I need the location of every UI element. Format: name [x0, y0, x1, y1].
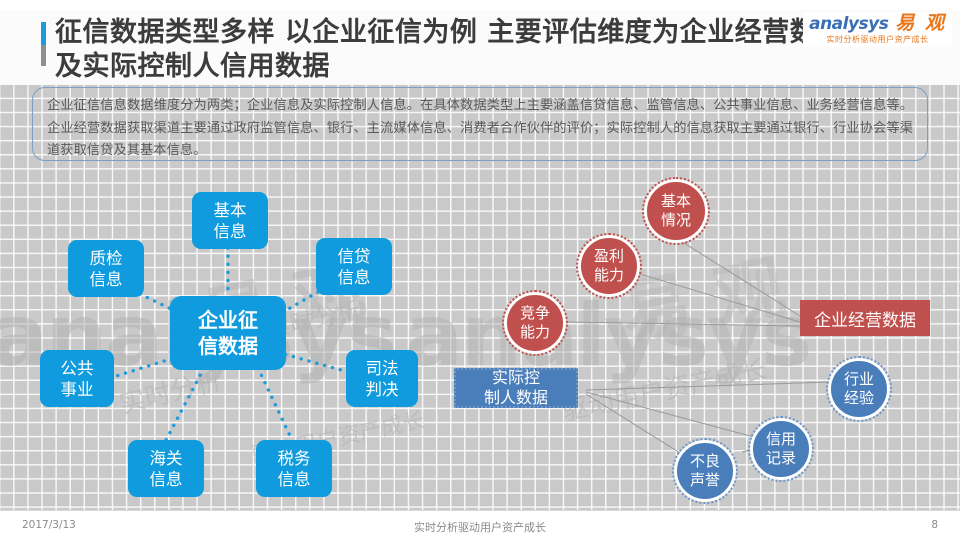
node-basic-info[interactable]: 基本 信息: [192, 192, 268, 249]
analysys-logo: analysys 易 观 实时分析驱动用户资产成长: [803, 12, 952, 47]
node-label-line2: 声誉: [690, 471, 720, 490]
node-judicial-judgement[interactable]: 司法 判决: [346, 350, 418, 407]
footer-page-number: 8: [931, 519, 938, 531]
node-label-line2: 信息: [90, 269, 123, 290]
node-label-line1: 基本: [214, 200, 247, 221]
node-label-line1: 行业: [844, 370, 874, 389]
node-label-line1: 海关: [150, 448, 183, 469]
node-label-line2: 经验: [844, 389, 874, 408]
node-label-line1: 信贷: [338, 246, 371, 267]
node-actual-controller-data-hub[interactable]: 实际控 制人数据: [454, 368, 578, 408]
logo-wordmark-en: analysys: [809, 16, 888, 33]
footer-tagline: 实时分析驱动用户资产成长: [414, 519, 546, 535]
logo-wordmark-cn: 易 观: [895, 14, 946, 33]
hub-label: 企业经营数据: [814, 306, 916, 331]
title-accent-bar: [41, 22, 46, 66]
node-label-line2: 判决: [366, 379, 399, 400]
node-quality-inspection-info[interactable]: 质检 信息: [68, 240, 144, 297]
node-credit-record[interactable]: 信用 记录: [750, 418, 812, 480]
node-label-line1: 基本: [661, 192, 691, 211]
node-label-line1: 信用: [766, 430, 796, 449]
node-bad-reputation[interactable]: 不良 声誉: [674, 440, 736, 502]
node-label-line2: 事业: [61, 379, 94, 400]
node-label-line2: 情况: [661, 211, 691, 230]
center-label-line2: 信数据: [198, 333, 258, 359]
node-label-line1: 盈利: [594, 247, 624, 266]
slide-footer: 2017/3/13 实时分析驱动用户资产成长 8: [0, 510, 960, 540]
node-label-line2: 信息: [338, 267, 371, 288]
node-label-line1: 司法: [366, 358, 399, 379]
node-basic-situation[interactable]: 基本 情况: [644, 179, 708, 243]
node-competitiveness[interactable]: 竞争 能力: [504, 292, 566, 354]
description-text: 企业征信信息数据维度分为两类；企业信息及实际控制人信息。在具体数据类型上主要涵盖…: [47, 95, 913, 163]
top-white-band: [0, 0, 960, 10]
node-label-line2: 记录: [766, 449, 796, 468]
title-line-1: 征信数据类型多样 以企业征信为例 主要评估维度为企业经营数据: [55, 17, 845, 48]
slide-canvas: analysys analysys 易 观 易 观 实时分析 驱动用户资产成长 …: [0, 0, 960, 540]
node-profitability[interactable]: 盈利 能力: [578, 235, 640, 297]
node-credit-loan-info[interactable]: 信贷 信息: [316, 238, 392, 295]
node-label-line2: 能力: [520, 323, 550, 342]
node-tax-info[interactable]: 税务 信息: [256, 440, 332, 497]
logo-tagline: 实时分析驱动用户资产成长: [809, 36, 946, 44]
node-label-line2: 信息: [278, 469, 311, 490]
node-label-line1: 质检: [90, 248, 123, 269]
center-label-line1: 企业征: [198, 307, 258, 333]
hub-label-line1: 实际控: [484, 368, 548, 388]
hub-label-line2: 制人数据: [484, 388, 548, 408]
page-title: 征信数据类型多样 以企业征信为例 主要评估维度为企业经营数据 及实际控制人信用数…: [55, 16, 885, 84]
node-label-line1: 公共: [61, 358, 94, 379]
description-box: 企业征信信息数据维度分为两类；企业信息及实际控制人信息。在具体数据类型上主要涵盖…: [32, 87, 928, 161]
node-enterprise-credit-center[interactable]: 企业征 信数据: [170, 296, 286, 370]
node-business-operation-data-hub[interactable]: 企业经营数据: [800, 300, 930, 336]
node-label-line2: 信息: [150, 469, 183, 490]
node-public-utility[interactable]: 公共 事业: [40, 350, 114, 407]
node-label-line2: 信息: [214, 221, 247, 242]
title-line-2: 及实际控制人信用数据: [55, 50, 885, 84]
node-label-line2: 能力: [594, 266, 624, 285]
node-label-line1: 不良: [690, 452, 720, 471]
node-customs-info[interactable]: 海关 信息: [128, 440, 204, 497]
node-industry-experience[interactable]: 行业 经验: [828, 358, 890, 420]
footer-date: 2017/3/13: [22, 519, 76, 531]
node-label-line1: 竞争: [520, 304, 550, 323]
node-label-line1: 税务: [278, 448, 311, 469]
